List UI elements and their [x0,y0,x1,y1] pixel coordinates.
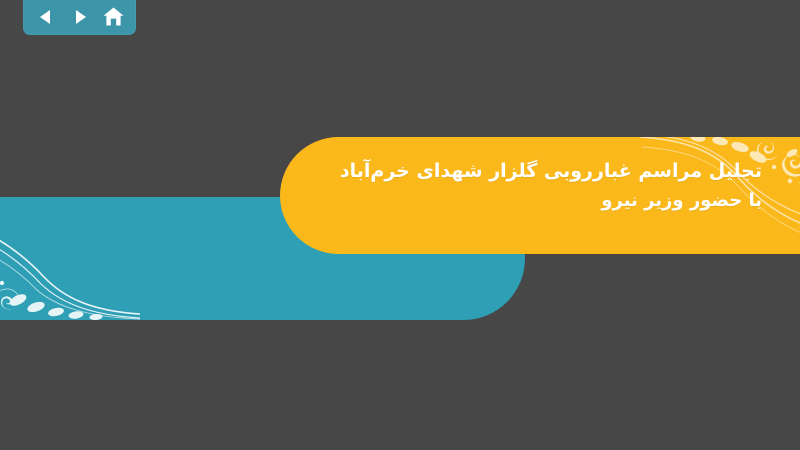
previous-button[interactable] [32,5,60,29]
home-icon [103,7,124,27]
triangle-left-icon [37,8,55,26]
title-line-2: با حضور وزیر نیرو [342,186,762,215]
arabesque-ornament [0,197,140,320]
slide-canvas: تجلیل مراسم غبارروبی گلزار شهدای خرم‌آبا… [0,0,800,450]
slide-title: تجلیل مراسم غبارروبی گلزار شهدای خرم‌آبا… [342,157,762,215]
home-button[interactable] [99,5,127,29]
navigation-toolbar [23,0,136,35]
orange-title-band: تجلیل مراسم غبارروبی گلزار شهدای خرم‌آبا… [280,137,800,254]
next-button[interactable] [66,5,94,29]
triangle-right-icon [71,8,89,26]
title-line-1: تجلیل مراسم غبارروبی گلزار شهدای خرم‌آبا… [342,157,762,186]
